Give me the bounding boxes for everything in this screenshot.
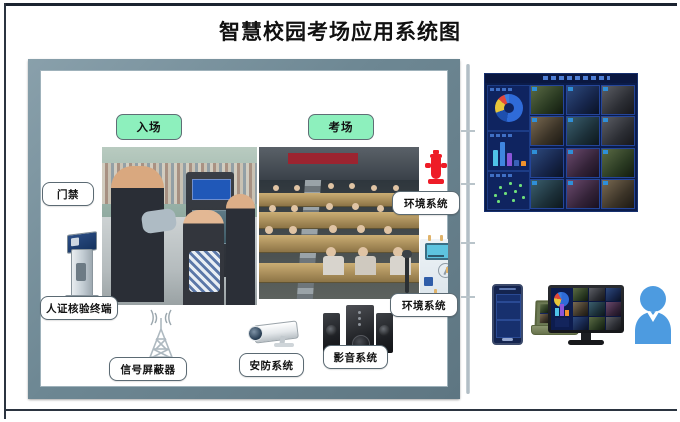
camera-feed-tile[interactable] bbox=[566, 148, 600, 178]
camera-feed-tile[interactable] bbox=[530, 85, 564, 115]
page-title: 智慧校园考场应用系统图 bbox=[0, 16, 680, 46]
divider-tick bbox=[461, 242, 475, 244]
environment-wall-icon bbox=[420, 239, 448, 295]
vertical-divider bbox=[466, 64, 470, 394]
divider-tick bbox=[461, 130, 475, 132]
id-verification-kiosk-icon bbox=[64, 233, 98, 305]
fire-hydrant-icon bbox=[424, 150, 448, 186]
page-border-left bbox=[4, 3, 6, 419]
dashboard-charts-column bbox=[487, 85, 528, 209]
scatter-chart-panel bbox=[487, 171, 530, 210]
exam-room-frame: 入场 考场 bbox=[28, 59, 460, 399]
camera-feed-tile[interactable] bbox=[601, 179, 635, 209]
dashboard-title-bar bbox=[543, 76, 610, 80]
camera-feed-tile[interactable] bbox=[530, 116, 564, 146]
desktop-monitor-icon[interactable] bbox=[548, 285, 624, 347]
donut-chart-panel bbox=[487, 85, 530, 131]
camera-feed-tile[interactable] bbox=[566, 85, 600, 115]
operator-avatar-icon bbox=[633, 282, 673, 344]
camera-feed-tile[interactable] bbox=[601, 148, 635, 178]
callout-id-terminal: 人证核验终端 bbox=[40, 296, 118, 320]
bar-chart-panel bbox=[487, 131, 530, 171]
camera-feed-tile[interactable] bbox=[601, 116, 635, 146]
divider-tick bbox=[461, 296, 475, 298]
entrance-verification-photo bbox=[102, 147, 257, 305]
callout-env-bottom: 环境系统 bbox=[390, 293, 458, 317]
mobile-phone-icon[interactable] bbox=[492, 284, 523, 345]
camera-feed-tile[interactable] bbox=[530, 148, 564, 178]
page-border-top bbox=[4, 3, 677, 6]
camera-feed-tile[interactable] bbox=[566, 116, 600, 146]
page-border-bottom bbox=[6, 409, 677, 411]
callout-door: 门禁 bbox=[42, 182, 94, 206]
security-camera-icon bbox=[246, 316, 302, 348]
callout-security: 安防系统 bbox=[239, 353, 304, 377]
dashboard-header bbox=[485, 74, 637, 83]
surveillance-dashboard[interactable] bbox=[484, 73, 638, 212]
exam-room-canvas: 入场 考场 bbox=[40, 70, 448, 387]
exam-hall-photo bbox=[259, 147, 419, 299]
camera-feed-tile[interactable] bbox=[530, 179, 564, 209]
section-tag-entry: 入场 bbox=[116, 114, 182, 140]
camera-feed-tile[interactable] bbox=[601, 85, 635, 115]
callout-av: 影音系统 bbox=[323, 345, 388, 369]
camera-feed-tile[interactable] bbox=[566, 179, 600, 209]
callout-jammer: 信号屏蔽器 bbox=[109, 357, 187, 381]
donut-chart bbox=[495, 94, 523, 122]
divider-tick bbox=[461, 183, 475, 185]
callout-env-top: 环境系统 bbox=[392, 191, 460, 215]
section-tag-hall: 考场 bbox=[308, 114, 374, 140]
camera-feed-grid[interactable] bbox=[530, 85, 635, 209]
